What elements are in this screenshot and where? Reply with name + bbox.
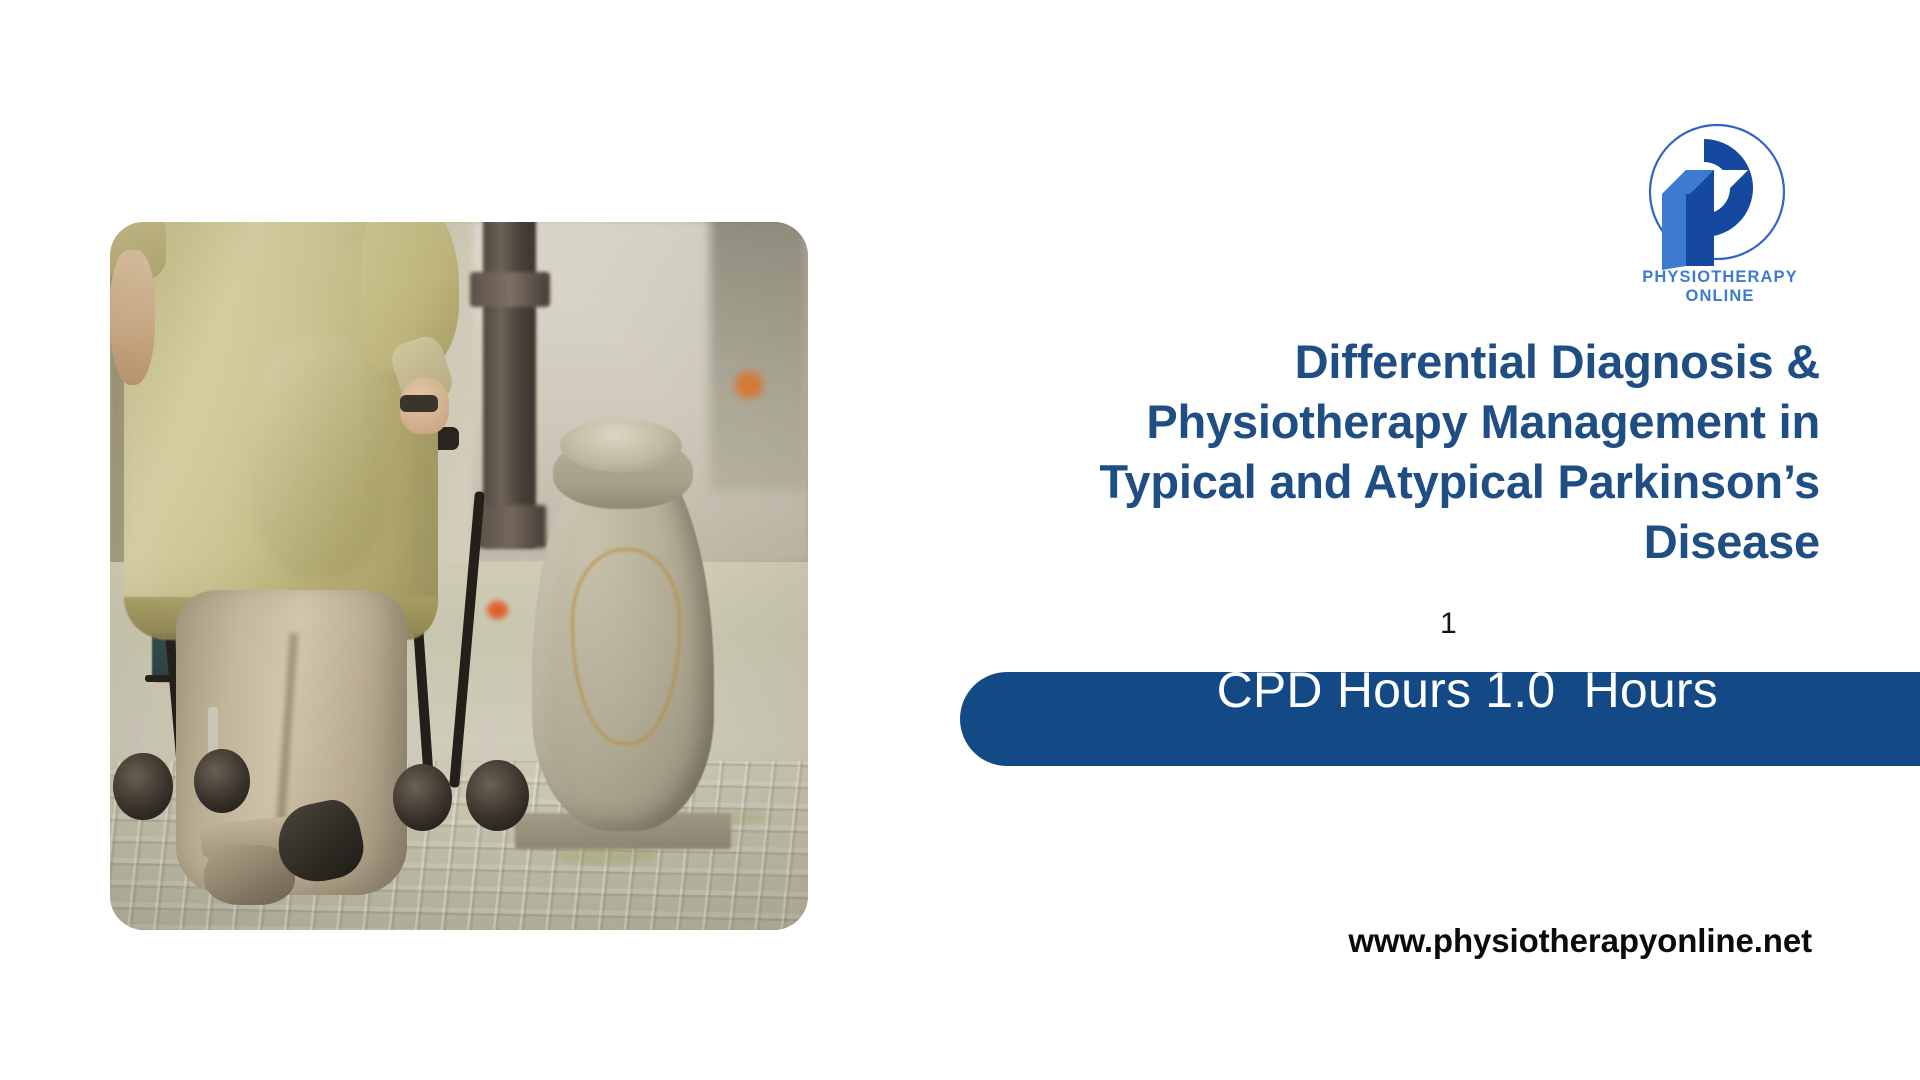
photo-walker-grip bbox=[400, 395, 438, 412]
photo-walker-wheel bbox=[194, 749, 250, 813]
photo-background-railing bbox=[710, 222, 808, 491]
course-title-line: Physiotherapy Management in bbox=[880, 392, 1820, 452]
course-title: Differential Diagnosis & Physiotherapy M… bbox=[880, 332, 1820, 573]
cpd-hours-label: CPD Hours 1.0 Hours bbox=[1217, 662, 1718, 718]
photo-walker-wheel bbox=[393, 764, 452, 831]
website-url[interactable]: www.physiotherapyonline.net bbox=[880, 922, 1820, 960]
promo-card-canvas: PHYSIOTHERAPY ONLINE Differential Diagno… bbox=[0, 0, 1920, 1080]
photo-walker-fork bbox=[483, 714, 494, 764]
cpd-hours-banner: CPD Hours 1.0 Hours 1 bbox=[960, 672, 1920, 766]
photo-scene bbox=[110, 222, 808, 930]
photo-bollard-top bbox=[560, 419, 682, 472]
photo-person-left-arm bbox=[110, 250, 155, 385]
photo-lamppost bbox=[483, 222, 535, 548]
course-title-line: Differential Diagnosis & bbox=[880, 332, 1820, 392]
course-title-line: Typical and Atypical Parkinson’s bbox=[880, 452, 1820, 512]
photo-walker-fork bbox=[409, 718, 419, 768]
photo-orange-cone-blur bbox=[487, 601, 508, 619]
course-hero-photo bbox=[110, 222, 808, 930]
cpd-hours-overlay-artifact: 1 bbox=[1440, 609, 1457, 639]
photo-lamppost-cap bbox=[470, 272, 550, 307]
course-title-line: Disease bbox=[880, 512, 1820, 572]
photo-lamppost-base bbox=[476, 505, 546, 547]
logo-wordmark: PHYSIOTHERAPY ONLINE bbox=[1618, 268, 1822, 306]
photo-walker-wheel bbox=[466, 760, 529, 831]
photo-walker-wheel bbox=[113, 753, 172, 820]
letter-p-in-circle-icon bbox=[1626, 120, 1808, 270]
brand-logo[interactable]: PHYSIOTHERAPY ONLINE bbox=[1618, 120, 1822, 300]
photo-background-orange-blur bbox=[735, 371, 763, 399]
photo-person-coat-fold bbox=[250, 335, 390, 576]
cpd-hours-label-wrap: CPD Hours 1.0 Hours 1 bbox=[1132, 603, 1718, 835]
